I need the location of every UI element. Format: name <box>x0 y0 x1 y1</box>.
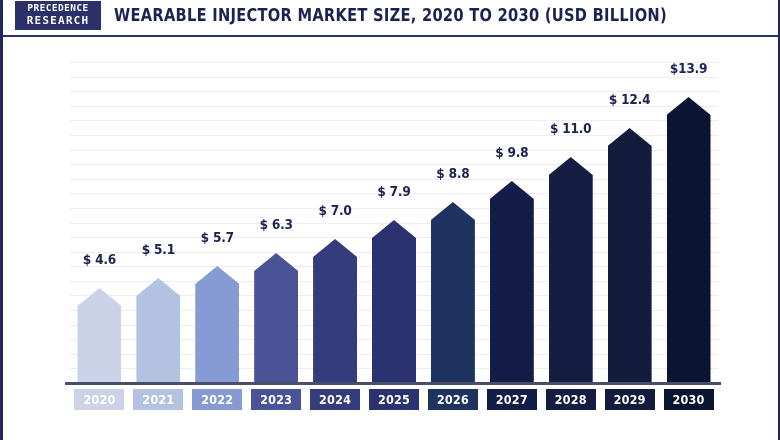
year-label-2026: 2026 <box>428 389 478 410</box>
bar-group: $ 7.0 <box>313 239 357 383</box>
bar-group: $ 9.8 <box>490 181 534 383</box>
bar-group: $ 12.4 <box>608 128 652 383</box>
bar-group: $ 5.1 <box>136 278 180 383</box>
bar <box>667 97 711 383</box>
bar <box>608 128 652 383</box>
bar-value-label: $ 9.8 <box>495 145 528 161</box>
bar-value-label: $ 6.3 <box>260 217 293 233</box>
year-label-2023: 2023 <box>251 389 301 410</box>
bar-value-label: $13.9 <box>670 61 707 77</box>
plot-area: $ 4.6$ 5.1$ 5.7$ 6.3$ 7.0$ 7.9$ 8.8$ 9.8… <box>70 62 718 383</box>
year-label-2021: 2021 <box>133 389 183 410</box>
bar-group: $ 7.9 <box>372 220 416 383</box>
bar <box>490 181 534 383</box>
bar-value-label: $ 8.8 <box>436 166 469 182</box>
bar-group: $ 6.3 <box>254 253 298 383</box>
bar-value-label: $ 4.6 <box>83 252 116 268</box>
bar-group: $ 11.0 <box>549 157 593 383</box>
x-axis-baseline <box>65 382 721 385</box>
chart-title: WEARABLE INJECTOR MARKET SIZE, 2020 TO 2… <box>30 6 751 26</box>
year-label-2028: 2028 <box>546 389 596 410</box>
bar-series: $ 4.6$ 5.1$ 5.7$ 6.3$ 7.0$ 7.9$ 8.8$ 9.8… <box>70 62 718 383</box>
bar <box>77 288 121 383</box>
bar <box>549 157 593 383</box>
x-axis-year-labels: 2020202120222023202420252026202720282029… <box>70 389 718 411</box>
bar <box>372 220 416 383</box>
year-label-2025: 2025 <box>369 389 419 410</box>
bar-group: $ 5.7 <box>195 266 239 383</box>
bar-group: $13.9 <box>667 97 711 383</box>
bar <box>195 266 239 383</box>
chart-header: PRECEDENCE RESEARCH WEARABLE INJECTOR MA… <box>3 0 778 37</box>
bar <box>313 239 357 383</box>
bar <box>254 253 298 383</box>
year-label-2030: 2030 <box>664 389 714 410</box>
year-label-2022: 2022 <box>192 389 242 410</box>
infographic-chart: PRECEDENCE RESEARCH WEARABLE INJECTOR MA… <box>0 0 780 440</box>
year-label-2020: 2020 <box>74 389 124 410</box>
year-label-2024: 2024 <box>310 389 360 410</box>
bar-value-label: $ 5.7 <box>201 230 234 246</box>
year-label-2027: 2027 <box>487 389 537 410</box>
bar-value-label: $ 5.1 <box>142 242 175 258</box>
bar-value-label: $ 7.9 <box>377 184 410 200</box>
year-label-2029: 2029 <box>605 389 655 410</box>
bar-value-label: $ 7.0 <box>318 203 351 219</box>
bar-group: $ 8.8 <box>431 202 475 383</box>
bar-group: $ 4.6 <box>77 288 121 383</box>
bar <box>136 278 180 383</box>
bar <box>431 202 475 383</box>
bar-value-label: $ 11.0 <box>550 121 591 137</box>
bar-value-label: $ 12.4 <box>609 92 650 108</box>
